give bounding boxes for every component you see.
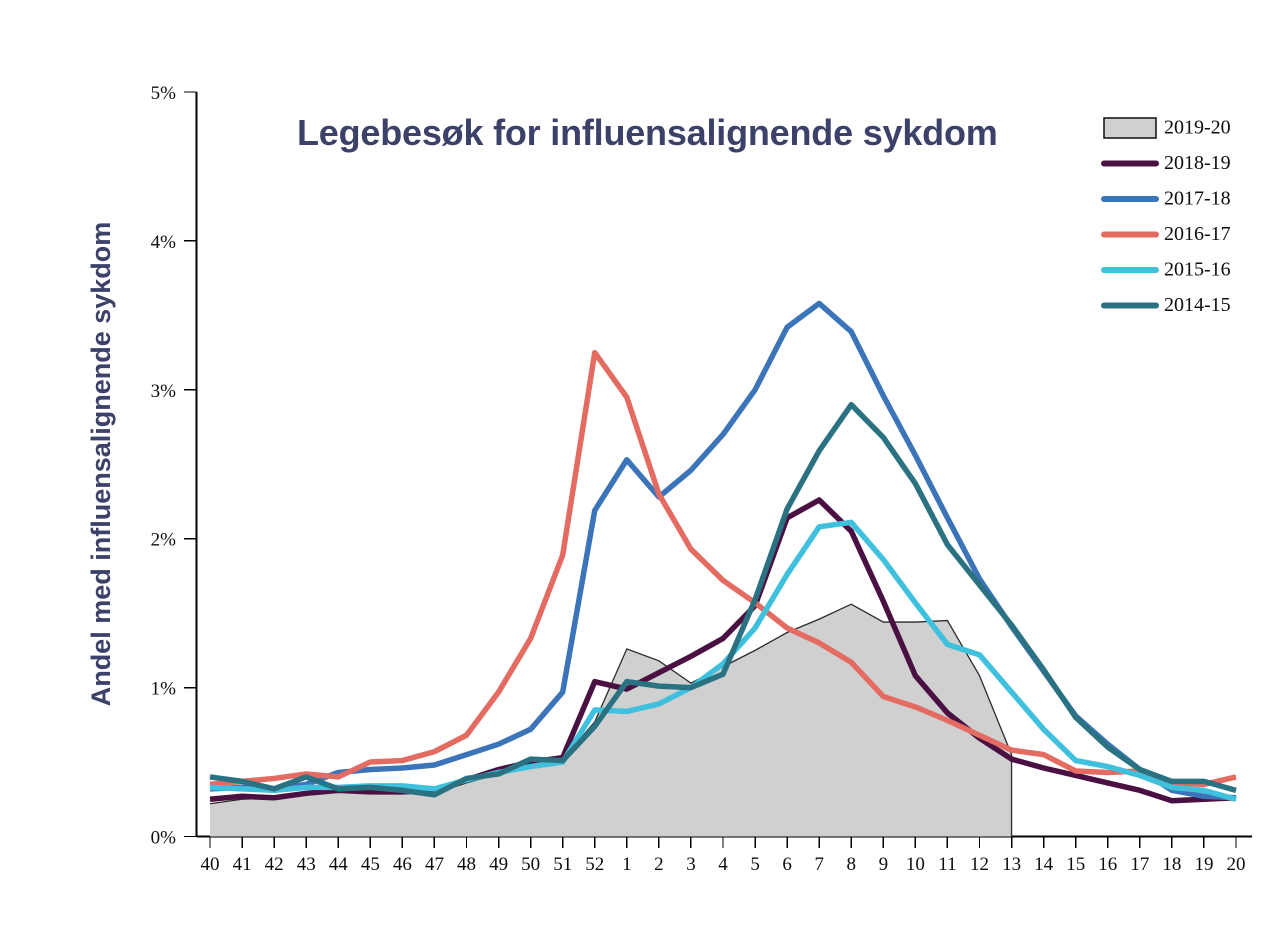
legend-label: 2015-16 bbox=[1164, 259, 1231, 281]
x-tick-label: 52 bbox=[585, 854, 604, 875]
legend-swatch-icon bbox=[1104, 118, 1156, 138]
legend-label: 2016-17 bbox=[1164, 223, 1231, 245]
x-tick-label: 11 bbox=[938, 854, 956, 875]
x-tick-label: 14 bbox=[1034, 854, 1054, 875]
x-tick-label: 7 bbox=[814, 854, 824, 875]
x-tick-label: 8 bbox=[847, 854, 857, 875]
x-tick-label: 42 bbox=[265, 854, 284, 875]
legend-label: 2019-20 bbox=[1164, 117, 1231, 139]
y-tick-label: 0% bbox=[151, 828, 177, 849]
x-tick-label: 1 bbox=[622, 854, 632, 875]
x-tick-label: 40 bbox=[201, 854, 220, 875]
x-tick-label: 20 bbox=[1227, 854, 1246, 875]
x-tick-label: 44 bbox=[329, 854, 349, 875]
x-tick-label: 46 bbox=[393, 854, 412, 875]
x-tick-label: 47 bbox=[425, 854, 444, 875]
y-axis-title-text: Andel med influensalignende sykdom bbox=[86, 222, 116, 707]
x-tick-label: 2 bbox=[654, 854, 664, 875]
legend-label: 2017-18 bbox=[1164, 188, 1231, 210]
legend-label: 2014-15 bbox=[1164, 294, 1231, 316]
page-title: Legebesøk for influensalignende sykdom bbox=[297, 112, 998, 153]
x-tick-label: 15 bbox=[1066, 854, 1085, 875]
y-axis-title: Andel med influensalignende sykdom bbox=[86, 222, 116, 707]
y-tick-label: 5% bbox=[151, 83, 177, 104]
x-tick-label: 10 bbox=[906, 854, 925, 875]
x-tick-label: 6 bbox=[782, 854, 792, 875]
influenza-line-chart: Andel med influensalignende sykdom Legeb… bbox=[0, 0, 1279, 936]
x-tick-label: 12 bbox=[970, 854, 989, 875]
x-tick-label: 19 bbox=[1194, 854, 1213, 875]
x-tick-label: 3 bbox=[686, 854, 696, 875]
x-tick-label: 45 bbox=[361, 854, 380, 875]
chart-container: Andel med influensalignende sykdom Legeb… bbox=[0, 0, 1279, 936]
y-tick-label: 1% bbox=[151, 679, 177, 700]
x-tick-label: 17 bbox=[1130, 854, 1149, 875]
y-tick-label: 4% bbox=[151, 232, 177, 253]
x-tick-label: 51 bbox=[553, 854, 572, 875]
x-tick-label: 18 bbox=[1162, 854, 1181, 875]
x-tick-label: 50 bbox=[521, 854, 540, 875]
x-tick-label: 13 bbox=[1002, 854, 1021, 875]
legend-label: 2018-19 bbox=[1164, 152, 1231, 174]
x-tick-label: 16 bbox=[1098, 854, 1117, 875]
x-tick-label: 5 bbox=[750, 854, 760, 875]
x-tick-label: 49 bbox=[489, 854, 508, 875]
x-tick-label: 43 bbox=[297, 854, 316, 875]
y-tick-label: 3% bbox=[151, 381, 177, 402]
x-tick-label: 4 bbox=[718, 854, 728, 875]
legend-item-2019-20[interactable]: 2019-20 bbox=[1104, 117, 1231, 139]
x-tick-label: 48 bbox=[457, 854, 476, 875]
x-tick-label: 9 bbox=[879, 854, 889, 875]
y-tick-label: 2% bbox=[151, 530, 177, 551]
x-tick-label: 41 bbox=[233, 854, 252, 875]
